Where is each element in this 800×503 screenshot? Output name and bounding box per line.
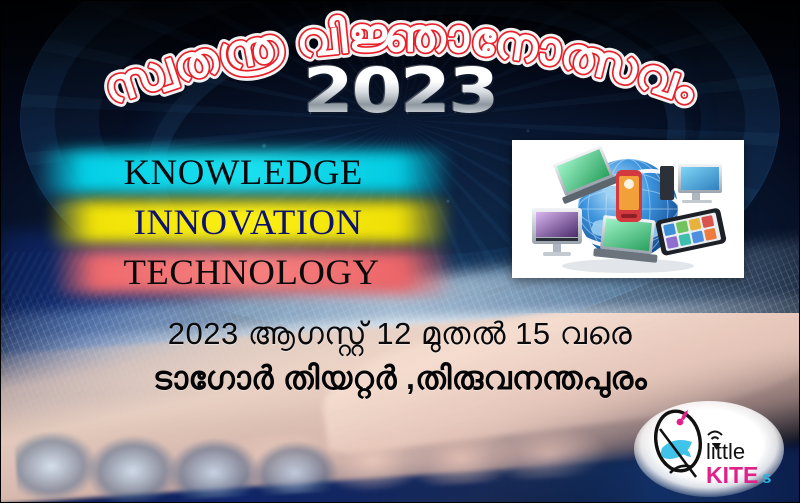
little-kites-logo: little KITE s: [634, 401, 784, 497]
kite-head-dot: [677, 419, 684, 426]
event-date-line: 2023 ആഗസ്റ്റ് 12 മുതൽ 15 വരെ: [0, 316, 800, 353]
wifi-icon: [708, 432, 722, 440]
technology-devices-collage-image: [512, 140, 744, 278]
logo-word-kite: KITE: [706, 462, 758, 488]
knowledge-label: KNOWLEDGE: [123, 151, 362, 193]
theme-band-knowledge: KNOWLEDGE: [28, 148, 458, 196]
theme-band-innovation: INNOVATION: [38, 198, 458, 246]
globe-shadow: [562, 259, 694, 273]
year-heading: 2023: [0, 60, 800, 122]
technology-label: TECHNOLOGY: [123, 251, 379, 293]
event-venue-line: ടാഗോർ തിയറ്റർ ,തിരുവനന്തപുരം: [0, 360, 800, 398]
logo-word-little: little: [706, 439, 745, 464]
innovation-label: INNOVATION: [134, 201, 363, 243]
theme-bands: KNOWLEDGE INNOVATION TECHNOLOGY: [28, 148, 458, 298]
smartphone-device: [616, 170, 642, 222]
kite-icon: [651, 408, 705, 477]
theme-band-technology: TECHNOLOGY: [42, 248, 460, 296]
poster-canvas: സ്വതന്ത്ര വിജ്ഞാനോത്സവം സ്വതന്ത്ര വിജ്ഞാ…: [0, 0, 800, 503]
logo-word-s: s: [762, 468, 771, 487]
